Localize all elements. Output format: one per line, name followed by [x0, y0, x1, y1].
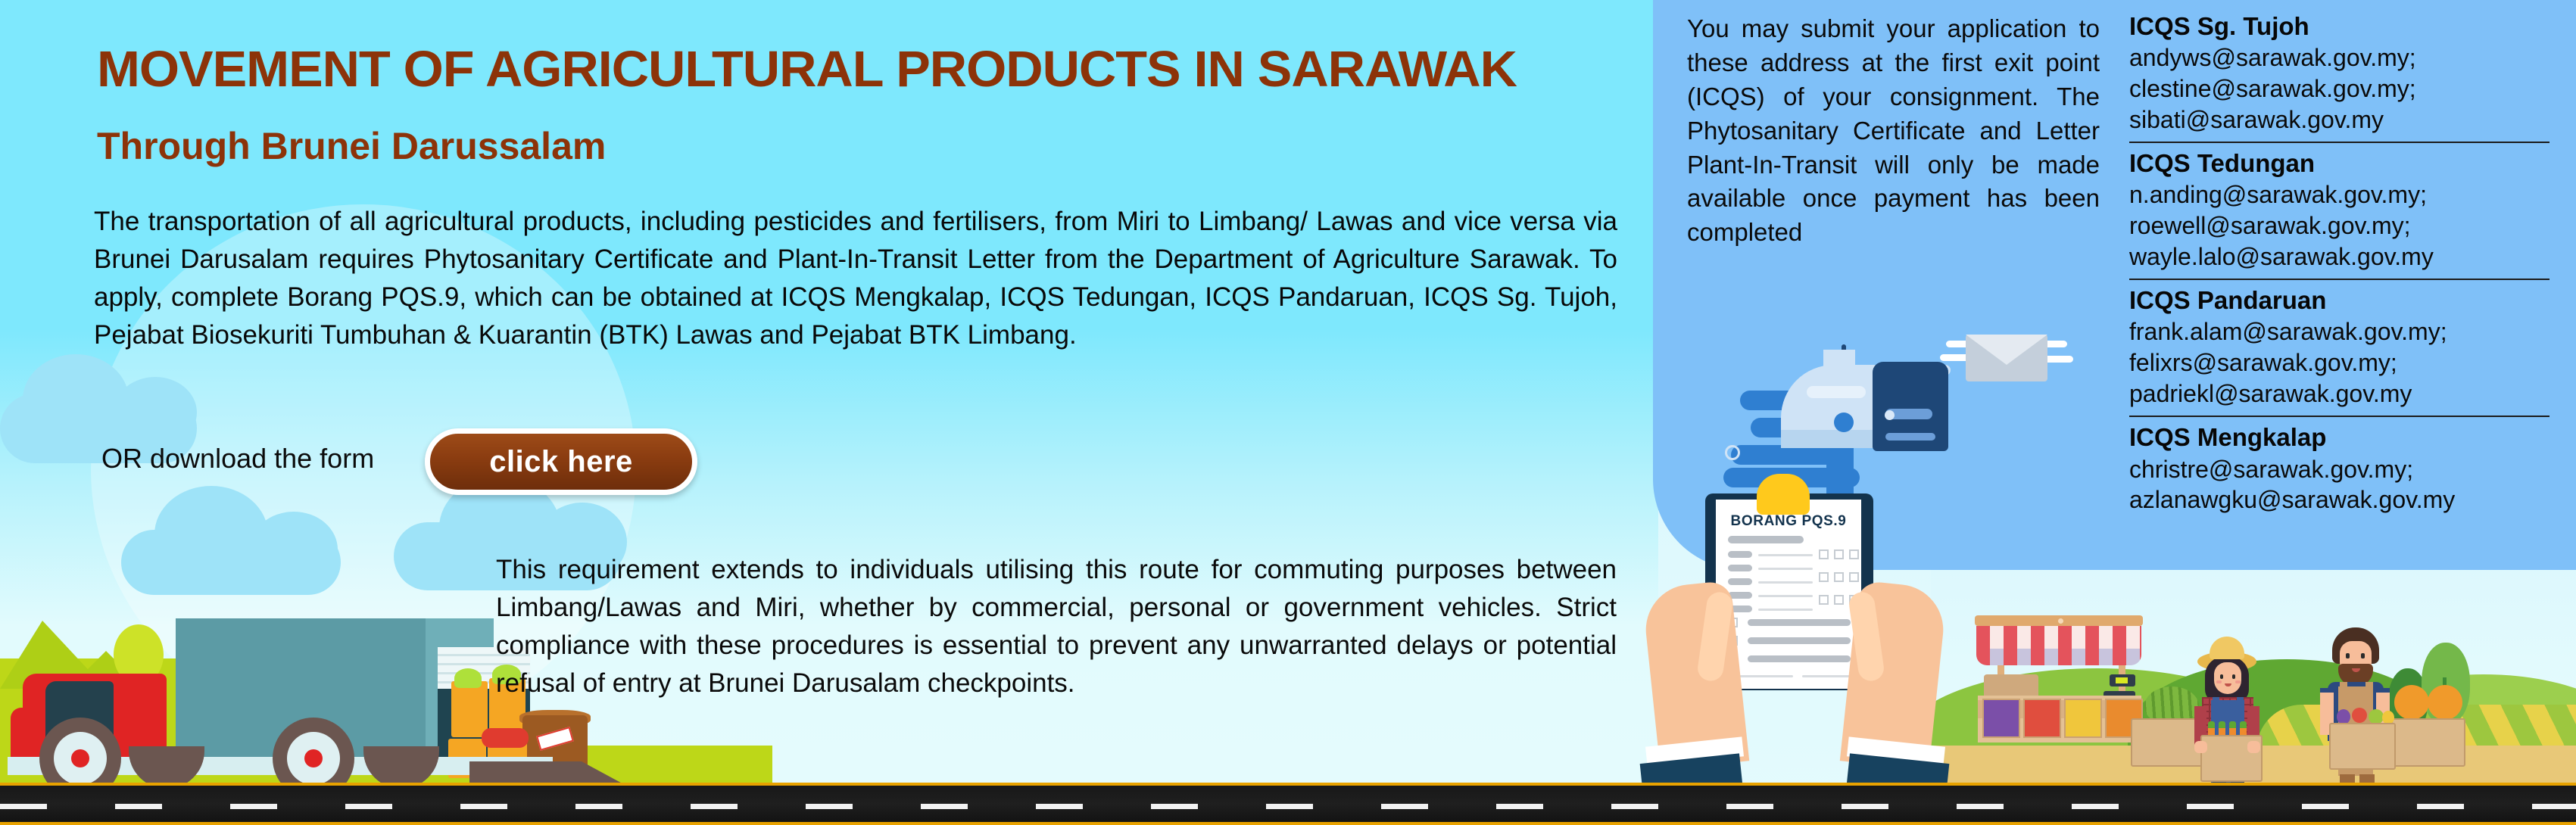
produce-crate: [2329, 723, 2396, 770]
eye: [2220, 674, 2223, 679]
download-row: OR download the form click here: [101, 428, 738, 497]
form-checkbox[interactable]: [1819, 572, 1829, 582]
contact-email[interactable]: sibati@sarawak.gov.my: [2129, 104, 2549, 135]
form-bar: [1748, 637, 1851, 644]
decorative-ring: [1725, 445, 1740, 460]
form-bar: [1728, 565, 1752, 571]
form-line: [1758, 609, 1813, 611]
page-subtitle: Through Brunei Darussalam: [97, 127, 1233, 165]
mailbox-flag-knob: [1834, 412, 1854, 432]
contact-email[interactable]: clestine@sarawak.gov.my;: [2129, 73, 2549, 104]
contact-email[interactable]: christre@sarawak.gov.my;: [2129, 454, 2549, 485]
form-checkbox[interactable]: [1834, 595, 1844, 605]
contact-title: ICQS Tedungan: [2129, 148, 2549, 179]
cheek: [2216, 680, 2222, 683]
form-bar: [1748, 655, 1851, 662]
download-label: OR download the form: [101, 445, 374, 472]
contact-email[interactable]: n.anding@sarawak.gov.my;: [2129, 179, 2549, 210]
road-strip: [0, 783, 2576, 825]
contact-block: ICQS Sg. Tujoh andyws@sarawak.gov.my; cl…: [2129, 11, 2549, 135]
contact-email[interactable]: azlanawgku@sarawak.gov.my: [2129, 484, 2549, 515]
description-paragraph-2: This requirement extends to individuals …: [496, 551, 1617, 702]
form-checkbox[interactable]: [1849, 549, 1859, 559]
contact-block: ICQS Tedungan n.anding@sarawak.gov.my; r…: [2129, 142, 2549, 272]
form-line: [1758, 554, 1813, 556]
contact-email[interactable]: felixrs@sarawak.gov.my;: [2129, 347, 2549, 378]
leg: [2340, 774, 2355, 783]
page-title: MOVEMENT OF AGRICULTURAL PRODUCTS IN SAR…: [97, 44, 1626, 95]
scale-display: [2116, 677, 2128, 683]
eye: [2361, 653, 2365, 658]
vegetable-leaf: [454, 668, 482, 688]
contact-list: ICQS Sg. Tujoh andyws@sarawak.gov.my; cl…: [2129, 11, 2549, 517]
form-bar: [1728, 578, 1752, 585]
form-bar: [1728, 536, 1804, 543]
tomato: [2352, 708, 2367, 723]
mailbox-flag: [1823, 350, 1855, 366]
hand: [2194, 741, 2207, 753]
contact-email[interactable]: frank.alam@sarawak.gov.my;: [2129, 316, 2549, 347]
contact-title: ICQS Pandaruan: [2129, 285, 2549, 316]
envelope-icon: [1966, 335, 2047, 381]
submit-instructions: You may submit your application to these…: [1687, 12, 2100, 250]
form-line: [1802, 675, 1851, 677]
mailbox-slot: [1885, 433, 1935, 441]
leg: [2359, 774, 2375, 783]
contact-title: ICQS Mengkalap: [2129, 422, 2549, 453]
form-checkbox[interactable]: [1834, 572, 1844, 582]
produce-crate: [451, 681, 488, 737]
cheek: [2235, 680, 2241, 683]
form-line: [1758, 568, 1813, 570]
envelope-trail: [2043, 356, 2073, 363]
clipboard-clip: [1757, 474, 1810, 515]
contact-block: ICQS Pandaruan frank.alam@sarawak.gov.my…: [2129, 279, 2549, 409]
form-checkbox[interactable]: [1849, 572, 1859, 582]
contact-title: ICQS Sg. Tujoh: [2129, 11, 2549, 42]
poster-canvas: MOVEMENT OF AGRICULTURAL PRODUCTS IN SAR…: [0, 0, 2576, 825]
description-paragraph-1: The transportation of all agricultural p…: [94, 203, 1617, 354]
form-checkbox[interactable]: [1834, 549, 1844, 559]
pumpkin: [2394, 685, 2429, 720]
form-line: [1734, 675, 1793, 677]
hand: [2247, 741, 2260, 753]
contact-email[interactable]: wayle.lalo@sarawak.gov.my: [2129, 241, 2549, 272]
form-bar: [1728, 551, 1752, 558]
eggplant: [2337, 709, 2350, 724]
form-checkbox[interactable]: [1819, 549, 1829, 559]
form-checkbox[interactable]: [1819, 595, 1829, 605]
contact-email[interactable]: roewell@sarawak.gov.my;: [2129, 210, 2549, 241]
mailbox-highlight: [1807, 386, 1866, 398]
contact-block: ICQS Mengkalap christre@sarawak.gov.my; …: [2129, 416, 2549, 515]
face: [2214, 662, 2241, 694]
form-title: BORANG PQS.9: [1716, 513, 1861, 530]
form-line: [1758, 581, 1813, 584]
mailbox-knob: [1885, 410, 1895, 420]
form-bar: [1748, 619, 1851, 626]
tomatoes: [482, 728, 529, 748]
eye: [2232, 674, 2235, 679]
form-line: [1758, 595, 1813, 597]
click-here-button[interactable]: click here: [425, 428, 697, 495]
eye: [2346, 653, 2350, 658]
produce-crate: [2391, 718, 2465, 767]
mailbox-form-illustration: BORANG PQS.9: [1658, 318, 2097, 825]
cabbage: [2369, 709, 2384, 724]
contact-email[interactable]: padriekl@sarawak.gov.my: [2129, 378, 2549, 409]
contact-email[interactable]: andyws@sarawak.gov.my;: [2129, 42, 2549, 73]
pumpkin: [2428, 685, 2462, 720]
road-lane-dashes: [0, 804, 2576, 809]
